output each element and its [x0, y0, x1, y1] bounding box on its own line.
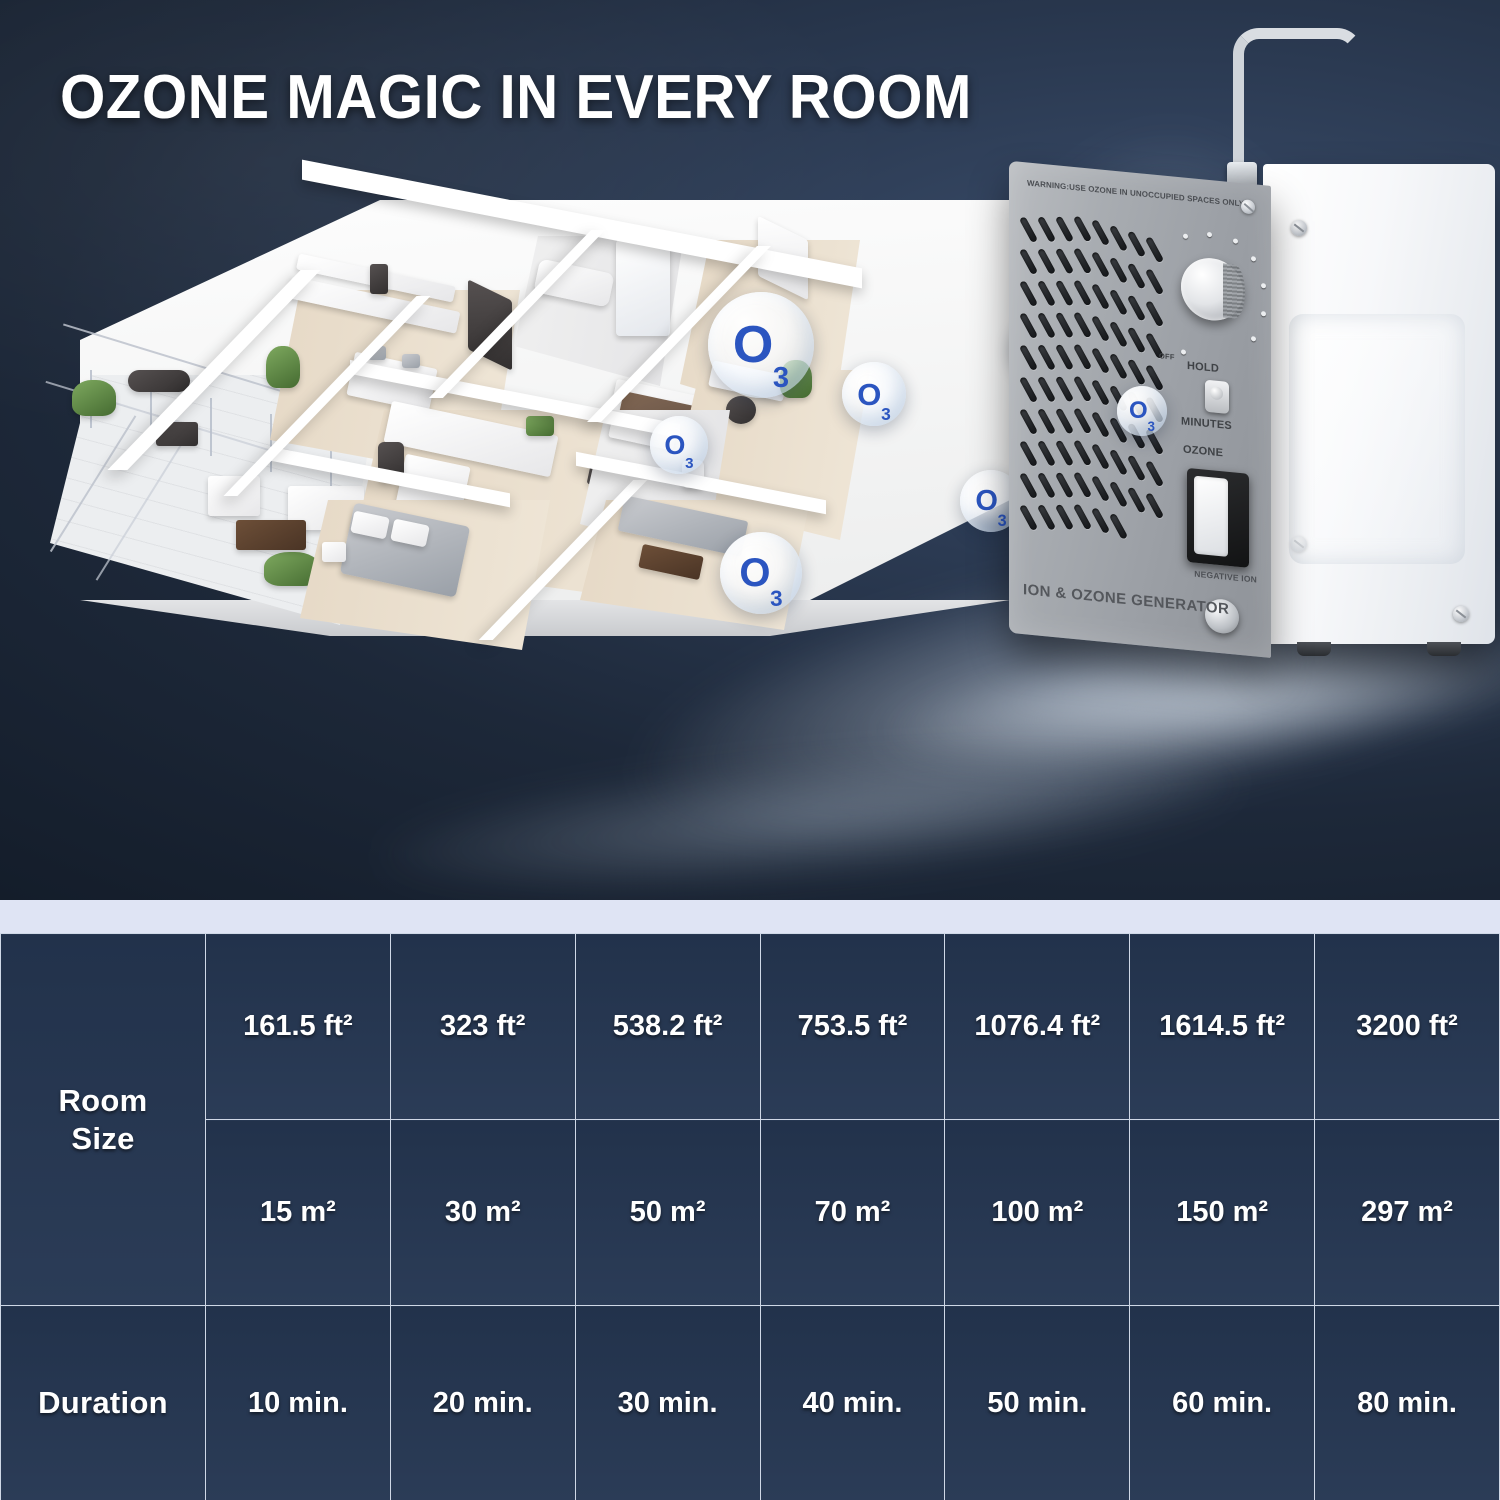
cell-sqm: 297 m² [1315, 1120, 1500, 1306]
shower-enclosure [616, 240, 670, 336]
railing-post [210, 398, 212, 456]
warning-label: WARNING:USE OZONE IN UNOCCUPIED SPACES O… [1027, 179, 1241, 209]
screw-icon [1453, 606, 1469, 622]
knob-label-minutes: MINUTES [1181, 415, 1232, 432]
patio-coffee-table [236, 520, 306, 550]
o3-subscript: 3 [770, 588, 782, 610]
device-foot [1427, 642, 1461, 656]
device-brand-label: ION & OZONE GENERATOR [1023, 581, 1229, 618]
hold-minutes-toggle[interactable] [1205, 380, 1229, 414]
cell-sqft: 1076.4 ft² [945, 934, 1130, 1120]
o3-bubble: O3 [1117, 386, 1167, 436]
o3-bubble: O3 [720, 532, 802, 614]
cell-duration: 60 min. [1130, 1306, 1315, 1500]
o3-subscript: 3 [773, 364, 789, 393]
device-body [1263, 164, 1495, 644]
nightstand [322, 542, 346, 562]
floor-plan-illustration: O3 O3 O3 O3 O3 [20, 170, 1030, 730]
product-infographic: OZONE MAGIC IN EVERY ROOM [0, 0, 1500, 1500]
divider-strip [0, 900, 1500, 933]
cell-sqft: 3200 ft² [1315, 934, 1500, 1120]
knob-label-off: OFF [1159, 351, 1175, 362]
ozone-generator-device: WARNING:USE OZONE IN UNOCCUPIED SPACES O… [995, 150, 1495, 680]
row-label-duration: Duration [1, 1306, 206, 1500]
screw-icon [1291, 220, 1307, 236]
room-size-label-line1: Room [2, 1082, 204, 1120]
cell-duration: 50 min. [945, 1306, 1130, 1500]
o3-letter: O [1129, 399, 1147, 423]
sofa-cushion [526, 416, 554, 436]
terrace-plant [72, 380, 116, 416]
negative-ion-rocker-switch[interactable] [1187, 468, 1249, 568]
negative-ion-label: NEGATIVE ION [1194, 569, 1257, 585]
o3-bubble: O3 [708, 292, 814, 398]
carry-handle [1233, 28, 1363, 178]
bicycle [128, 370, 190, 392]
table-row-duration: Duration 10 min. 20 min. 30 min. 40 min.… [1, 1306, 1500, 1500]
room-size-duration-table: Room Size 161.5 ft² 323 ft² 538.2 ft² 75… [0, 933, 1500, 1500]
office-chair [726, 396, 756, 424]
cell-duration: 40 min. [760, 1306, 945, 1500]
dining-chair [402, 354, 420, 368]
background-swoosh-4 [376, 723, 1243, 900]
cell-sqft: 753.5 ft² [760, 934, 945, 1120]
o3-letter: O [975, 487, 997, 516]
knob-label-ozone: OZONE [1183, 444, 1223, 460]
o3-subscript: 3 [1147, 420, 1154, 433]
cell-sqft: 161.5 ft² [206, 934, 391, 1120]
cell-duration: 20 min. [390, 1306, 575, 1500]
cell-sqm: 150 m² [1130, 1120, 1315, 1306]
headline-title: OZONE MAGIC IN EVERY ROOM [60, 62, 972, 133]
cell-duration: 80 min. [1315, 1306, 1500, 1500]
cell-sqm: 100 m² [945, 1120, 1130, 1306]
cell-duration: 30 min. [575, 1306, 760, 1500]
o3-letter: O [739, 553, 769, 593]
o3-letter: O [664, 432, 684, 459]
o3-bubble: O3 [842, 362, 906, 426]
refrigerator [370, 264, 388, 294]
device-foot [1297, 642, 1331, 656]
screw-icon [1241, 199, 1255, 214]
table-row-sqm: 15 m² 30 m² 50 m² 70 m² 100 m² 150 m² 29… [1, 1120, 1500, 1306]
patio-armchair [208, 476, 260, 516]
screw-icon [1291, 536, 1307, 552]
floor-slab-edge [80, 600, 1010, 636]
cell-sqm: 15 m² [206, 1120, 391, 1306]
cell-sqm: 70 m² [760, 1120, 945, 1306]
o3-bubble: O3 [650, 416, 708, 474]
knob-label-hold: HOLD [1187, 360, 1219, 375]
cell-duration: 10 min. [206, 1306, 391, 1500]
row-label-room-size: Room Size [1, 934, 206, 1306]
table-row-sqft: Room Size 161.5 ft² 323 ft² 538.2 ft² 75… [1, 934, 1500, 1120]
cell-sqft: 538.2 ft² [575, 934, 760, 1120]
cell-sqft: 1614.5 ft² [1130, 934, 1315, 1120]
vent-grille [1023, 210, 1173, 554]
o3-subscript: 3 [881, 406, 891, 423]
spec-table-container: Room Size 161.5 ft² 323 ft² 538.2 ft² 75… [0, 933, 1500, 1500]
railing-post [270, 414, 272, 472]
kitchen-plant [266, 346, 300, 388]
o3-subscript: 3 [685, 456, 693, 471]
cell-sqm: 30 m² [390, 1120, 575, 1306]
room-size-label-line2: Size [2, 1120, 204, 1158]
cell-sqm: 50 m² [575, 1120, 760, 1306]
o3-letter: O [857, 379, 881, 410]
o3-letter: O [733, 319, 772, 371]
cell-sqft: 323 ft² [390, 934, 575, 1120]
hero-section: OZONE MAGIC IN EVERY ROOM [0, 0, 1500, 900]
